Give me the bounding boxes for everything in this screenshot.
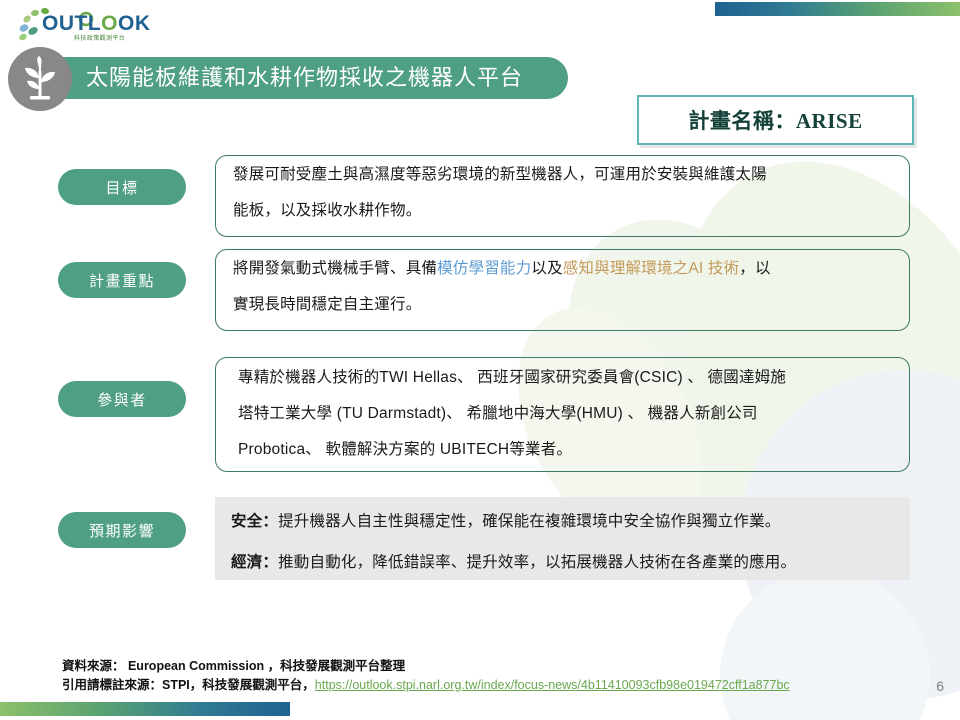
focus-text: 將開發氣動式機械手臂、具備模仿學習能力以及感知與理解環境之AI 技術，以 實現長…: [233, 251, 898, 323]
footer-source-url[interactable]: https://outlook.stpi.narl.org.tw/index/f…: [315, 678, 790, 692]
focus-text-e: ，以: [739, 260, 770, 277]
impact-line-economy: 經濟：推動自動化，降低錯誤率、提升效率，以拓展機器人技術在各產業的應用。: [231, 552, 901, 574]
footer-line-1: 資料來源： European Commission ，科技發展觀測平台整理: [62, 657, 790, 676]
footer-citation-prefix: 引用請標註來源：STPI，科技發展觀測平台，: [62, 678, 315, 692]
footer-source: 資料來源： European Commission ，科技發展觀測平台整理 引用…: [62, 657, 790, 695]
objective-line-1: 發展可耐受塵土與高濕度等惡劣環境的新型機器人，可運用於安裝與維護太陽: [233, 157, 898, 193]
impact-economy-body: 推動自動化，降低錯誤率、提升效率，以拓展機器人技術在各產業的應用。: [278, 554, 796, 571]
section-label-text: 目標: [105, 177, 138, 198]
impact-line-safety: 安全：提升機器人自主性與穩定性，確保能在複雜環境中安全協作與獨立作業。: [231, 511, 901, 533]
focus-text-a: 將開發氣動式機械手臂、具備: [233, 260, 437, 277]
footer-line-2: 引用請標註來源：STPI，科技發展觀測平台，https://outlook.st…: [62, 676, 790, 695]
section-label-focus: 計畫重點: [58, 262, 186, 298]
participants-line-1: 專精於機器人技術的TWI Hellas、 西班牙國家研究委員會(CSIC) 、 …: [238, 360, 903, 396]
page-number: 6: [936, 678, 944, 694]
outlook-logo: OUTLOOK 科技政策觀測平台: [14, 6, 144, 46]
focus-text-c: 以及: [531, 260, 562, 277]
section-label-expected-impact: 預期影響: [58, 512, 186, 548]
background-ellipse-decoration: [720, 570, 930, 720]
logo-text-part3: OK: [118, 12, 151, 35]
focus-line-1: 將開發氣動式機械手臂、具備模仿學習能力以及感知與理解環境之AI 技術，以: [233, 251, 898, 287]
participants-text: 專精於機器人技術的TWI Hellas、 西班牙國家研究委員會(CSIC) 、 …: [238, 360, 903, 468]
logo-text-part2: O: [101, 12, 118, 35]
section-label-objective: 目標: [58, 169, 186, 205]
impact-economy-title: 經濟：: [231, 554, 278, 571]
slide-canvas: OUTLOOK 科技政策觀測平台 太陽能板維護和水耕作物採收之機器人平台 計畫名…: [0, 0, 960, 720]
objective-line-2: 能板，以及採收水耕作物。: [233, 193, 898, 229]
participants-line-3: Probotica、 軟體解決方案的 UBITECH等業者。: [238, 432, 903, 468]
participants-line-2: 塔特工業大學 (TU Darmstadt)、 希臘地中海大學(HMU) 、 機器…: [238, 396, 903, 432]
logo-text-part1: OUTL: [42, 12, 101, 35]
sprout-icon: [8, 47, 72, 111]
slide-title: 太陽能板維護和水耕作物採收之機器人平台: [86, 62, 566, 94]
impact-safety-body: 提升機器人自主性與穩定性，確保能在複雜環境中安全協作與獨立作業。: [278, 513, 780, 530]
objective-text: 發展可耐受塵土與高濕度等惡劣環境的新型機器人，可運用於安裝與維護太陽 能板，以及…: [233, 157, 898, 229]
project-name-label: 計畫名稱：ARISE: [688, 105, 862, 135]
top-gradient-bar: [715, 2, 960, 16]
section-label-text: 計畫重點: [89, 270, 155, 291]
bottom-gradient-bar: [0, 702, 290, 716]
section-label-text: 預期影響: [89, 520, 155, 541]
focus-highlight-imitation-learning: 模仿學習能力: [437, 260, 531, 277]
section-label-participants: 參與者: [58, 381, 186, 417]
focus-highlight-ai-perception: 感知與理解環境之AI 技術: [563, 260, 740, 277]
project-name-box: 計畫名稱：ARISE: [637, 95, 914, 145]
impact-safety-title: 安全：: [231, 513, 278, 530]
focus-line-2: 實現長時間穩定自主運行。: [233, 287, 898, 323]
logo-subtitle: 科技政策觀測平台: [74, 33, 125, 42]
section-label-text: 參與者: [97, 389, 147, 410]
